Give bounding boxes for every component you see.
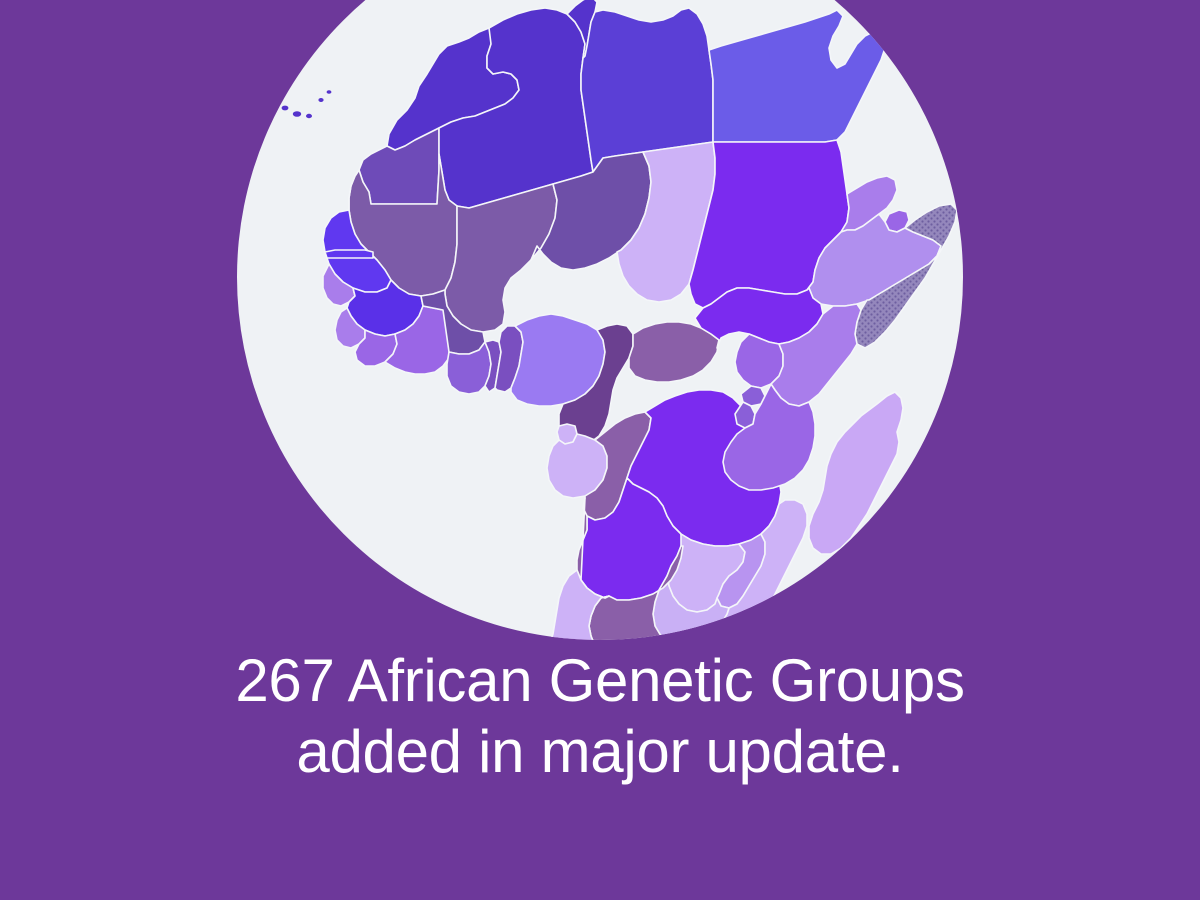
caption-line-1: 267 African Genetic Groups — [0, 646, 1200, 717]
africa-map-svg — [237, 0, 963, 640]
africa-map — [237, 0, 963, 640]
caption-block: 267 African Genetic Groups added in majo… — [0, 646, 1200, 788]
map-country-layer — [256, 0, 957, 640]
country-canary-islands[interactable] — [256, 90, 332, 118]
country-egypt[interactable] — [709, 10, 887, 142]
country-mali[interactable] — [445, 184, 557, 332]
caption-line-2: added in major update. — [0, 717, 1200, 788]
country-madagascar[interactable] — [809, 392, 903, 554]
country-gambia[interactable] — [325, 250, 373, 258]
poster-canvas: 267 African Genetic Groups added in majo… — [0, 0, 1200, 900]
